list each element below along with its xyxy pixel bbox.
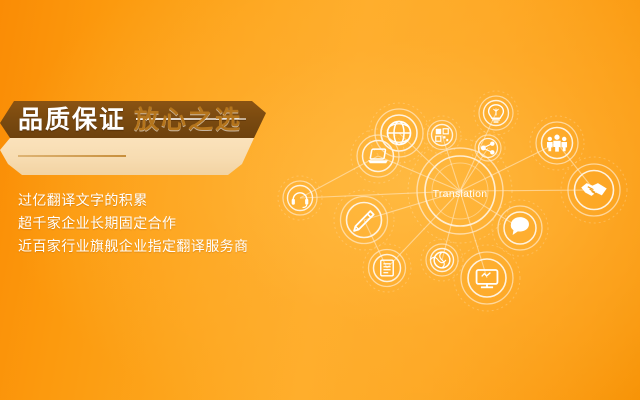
ribbon-title-bottom: 放心之选 (134, 101, 242, 138)
node-lightbulb-icon (474, 91, 518, 135)
tagline-item: 过亿翻译文字的积累 (18, 190, 268, 213)
node-network-globe-icon (421, 239, 463, 281)
node-speech-bubble-icon (492, 200, 548, 256)
headline-ribbon: 品质保证 放心之选 (0, 101, 266, 175)
ribbon-bottom-rule (18, 155, 126, 157)
tagline-item: 近百家行业旗舰企业指定翻译服务商 (18, 236, 268, 259)
ribbon-title-top: 品质保证 (18, 101, 126, 138)
promo-banner: Translation (0, 0, 640, 400)
network-center-label: Translation (433, 188, 488, 200)
translation-network-graphic: Translation (282, 78, 640, 323)
tagline-item: 超千家企业长期固定合作 (18, 213, 268, 236)
tagline-list: 过亿翻译文字的积累 超千家企业长期固定合作 近百家行业旗舰企业指定翻译服务商 (18, 190, 268, 259)
